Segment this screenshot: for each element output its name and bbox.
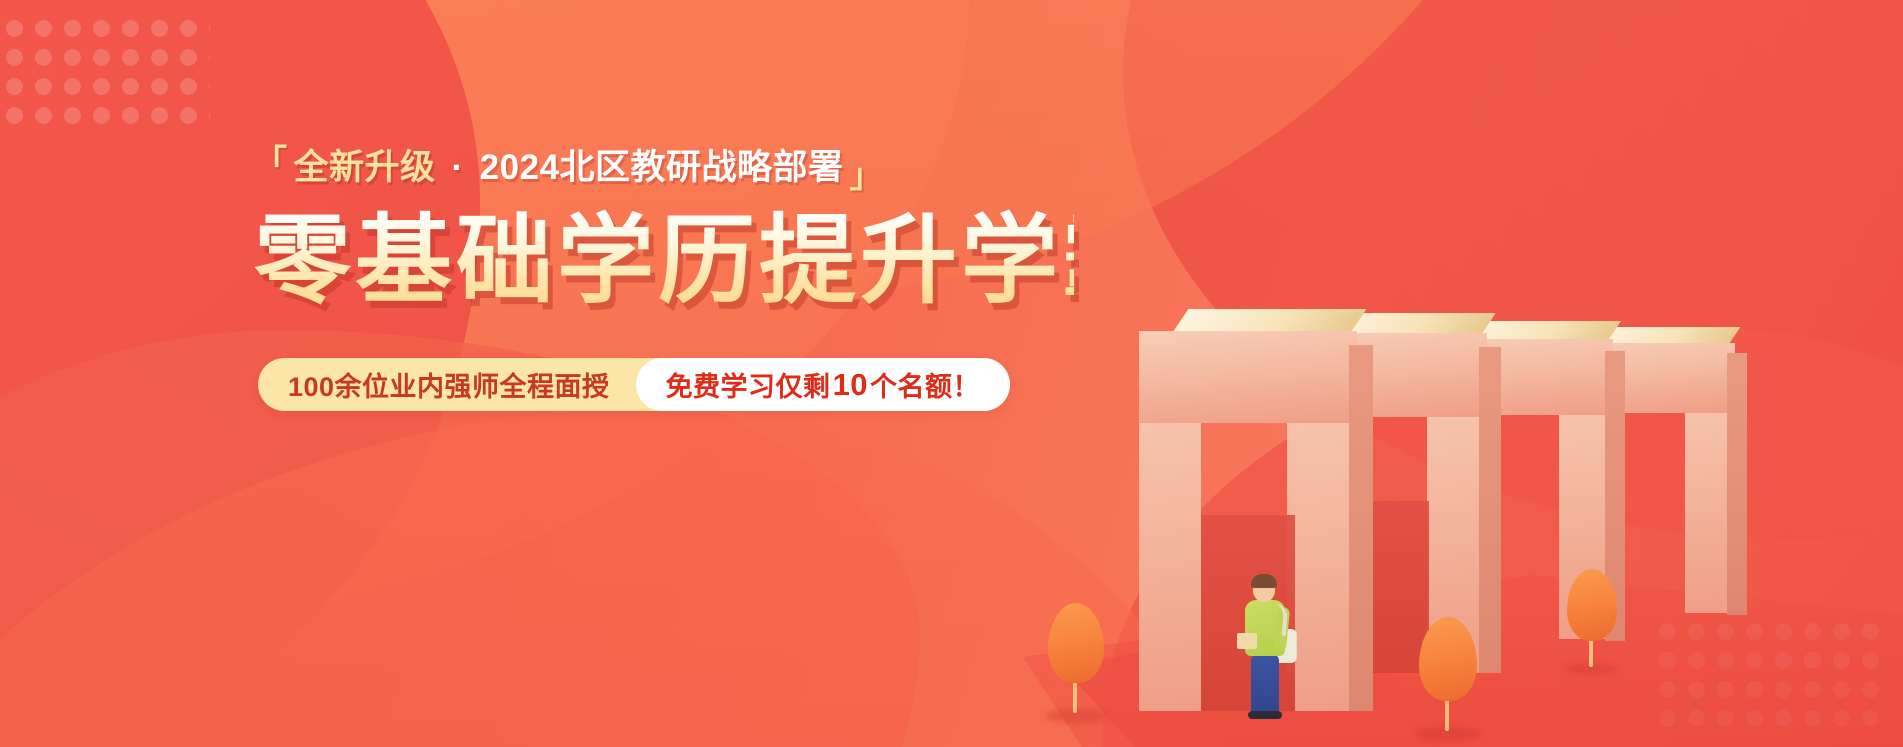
subtitle-separator: ·	[442, 150, 474, 185]
autumn-tree-right	[1561, 569, 1623, 675]
close-bracket-icon: 」	[850, 159, 884, 192]
promo-banner: 「 全新升级 · 2024北区教研战略部署 」 零基础学历提升学霸班 100余位…	[0, 0, 1903, 747]
book-arch-side-face	[1349, 345, 1373, 711]
subtitle-highlight: 全新升级	[294, 150, 436, 185]
headline-block: 「 全新升级 · 2024北区教研战略部署 」 零基础学历提升学霸班	[254, 150, 1074, 314]
seats-count: 10	[831, 367, 870, 403]
feature-pill[interactable]: 100余位业内强师全程面授 免费学习仅剩 10 个名额！	[258, 358, 1010, 411]
student-with-backpack	[1235, 571, 1299, 719]
dot-grid-top-left	[0, 14, 210, 132]
book-icon	[1237, 633, 1257, 649]
seats-suffix-label: 个名额！	[870, 365, 980, 404]
pill-teachers-label: 100余位业内强师全程面授	[258, 358, 636, 411]
page-title: 零基础学历提升学霸班	[254, 209, 1074, 314]
pill-seats-badge[interactable]: 免费学习仅剩 10 个名额！	[636, 358, 1010, 411]
tree-crown	[1419, 617, 1477, 701]
student-legs	[1251, 655, 1279, 713]
subtitle-main: 2024北区教研战略部署	[480, 150, 844, 185]
bag-strap	[1256, 602, 1288, 636]
student-shoes	[1248, 711, 1282, 719]
open-bracket-icon: 「	[254, 145, 288, 178]
autumn-tree-middle	[1411, 617, 1485, 741]
autumn-tree-left	[1041, 603, 1111, 723]
book-arch-side-face	[1727, 353, 1747, 615]
tree-crown	[1567, 569, 1617, 641]
student-hair	[1251, 574, 1277, 588]
seats-prefix-label: 免费学习仅剩	[666, 365, 831, 404]
book-arch-lintel	[1139, 331, 1357, 423]
tree-crown	[1048, 603, 1104, 683]
banner-subtitle: 「 全新升级 · 2024北区教研战略部署 」	[254, 150, 1074, 185]
